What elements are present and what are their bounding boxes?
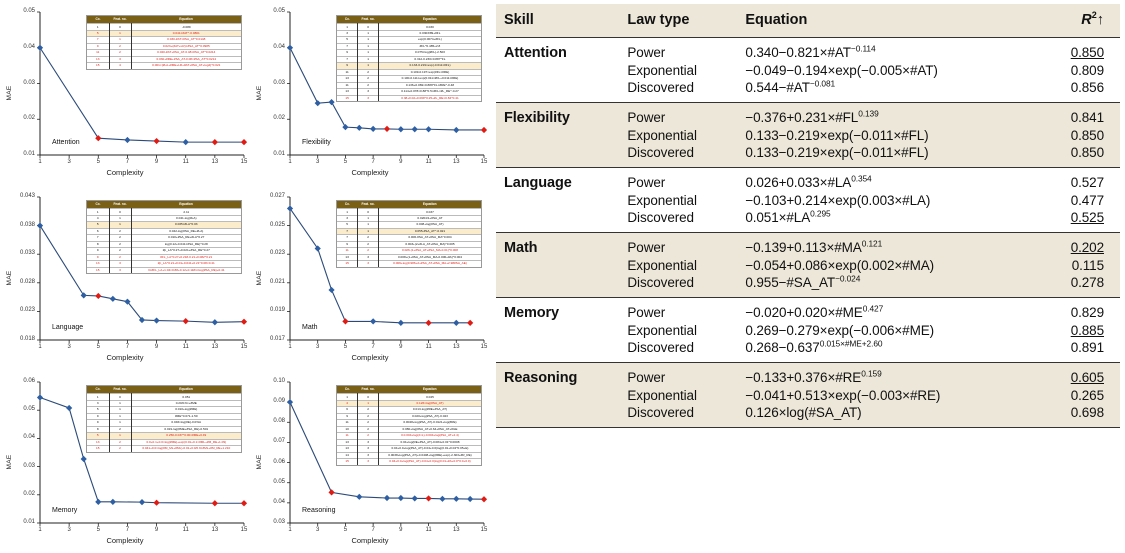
chart-reasoning-ytick: 0.07 <box>273 438 285 444</box>
chart-memory: 0.010.020.030.040.050.0613579111315MAECo… <box>0 370 250 553</box>
chart-memory-xtick: 11 <box>178 527 194 533</box>
chart-language-ytick: 0.033 <box>20 250 35 256</box>
chart-memory-ytick: 0.05 <box>23 406 35 412</box>
cell-law-type: Exponential <box>619 387 737 404</box>
cell-r2: 0.202 <box>1037 233 1120 258</box>
cell-r2: 0.525 <box>1037 209 1120 233</box>
inner-table-row: 1533×#FL_LA+1.04×0.88+0.12+0.1181×log(#S… <box>87 267 241 273</box>
chart-language: 0.0180.0230.0280.0330.0380.0431357911131… <box>0 185 250 370</box>
chart-language-xlabel: Complexity <box>0 353 250 362</box>
chart-reasoning-xtick: 3 <box>310 527 326 533</box>
chart-attention-ytick: 0.01 <box>23 151 35 157</box>
chart-language-xtick: 5 <box>90 344 106 350</box>
inner-table-row: 1530.009+log(0.986+2+#SA_AT+#SA_MA+2.98#… <box>337 261 481 267</box>
chart-language-ytick: 0.038 <box>20 222 35 228</box>
chart-flexibility-xlabel: Complexity <box>250 168 490 177</box>
cell-equation: 0.133−0.219×exp(−0.011×#FL) <box>737 144 1037 168</box>
cell-r2: 0.850 <box>1037 38 1120 63</box>
chart-memory-ytick: 0.01 <box>23 519 35 525</box>
chart-memory-ylabel: MAE <box>6 454 13 469</box>
cell-r2: 0.605 <box>1037 363 1120 388</box>
cell-r2: 0.850 <box>1037 127 1120 144</box>
cell-skill <box>496 79 619 103</box>
results-row-language-power: LanguagePower0.026+0.033×#LA0.3540.527 <box>496 168 1120 193</box>
inner-table-row: 1530.38+0.02+0.069^0.25+#L_RE×0.84^0.41 <box>337 95 481 101</box>
cell-r2: 0.477 <box>1037 192 1120 209</box>
cell-skill: Flexibility <box>496 103 619 128</box>
chart-memory-series-label: Memory <box>52 507 77 514</box>
cell-r2: 0.115 <box>1037 257 1120 274</box>
inner-th-equation: Equation <box>131 386 241 394</box>
inner-th-cx: Cx. <box>87 386 109 394</box>
inner-table-row: 1540.001×(#LA+#ME+LR+#AT+#SA_AT+log2)^0.… <box>87 63 241 69</box>
inner-th-feat: Feat. no. <box>358 16 379 24</box>
chart-attention-xtick: 3 <box>61 159 77 165</box>
chart-attention-ytick: 0.02 <box>23 115 35 121</box>
chart-language-ytick: 0.023 <box>20 307 35 313</box>
results-row-attention-discovered: Discovered0.544−#AT−0.0810.856 <box>496 79 1120 103</box>
plots-grid: 0.010.020.030.040.0513579111315MAEComple… <box>0 0 490 553</box>
cell-equation: 0.955−#SA_AT−0.024 <box>737 274 1037 298</box>
chart-flexibility-xtick: 1 <box>282 159 298 165</box>
results-row-math-power: MathPower−0.139+0.113×#MA0.1210.202 <box>496 233 1120 258</box>
inner-th-feat: Feat. no. <box>109 201 131 209</box>
cell-skill: Attention <box>496 38 619 63</box>
chart-reasoning-ytick: 0.09 <box>273 398 285 404</box>
chart-math-ytick: 0.021 <box>270 279 285 285</box>
cell-equation: −0.133+0.376×#RE0.159 <box>737 363 1037 388</box>
cell-r2: 0.891 <box>1037 339 1120 363</box>
chart-math-xtick: 5 <box>337 344 353 350</box>
cell-skill <box>496 127 619 144</box>
chart-reasoning-ytick: 0.08 <box>273 418 285 424</box>
cell-equation: 0.269−0.279×exp(−0.006×#ME) <box>737 322 1037 339</box>
inner-table-row: 1530.04+0.0+log(#SA_AT)-0.04+0.0(log(0.0… <box>337 459 481 465</box>
cell-r2: 0.885 <box>1037 322 1120 339</box>
results-row-memory-discovered: Discovered0.268−0.6370.015×#ME+2.600.891 <box>496 339 1120 363</box>
chart-flexibility-xtick: 13 <box>448 159 464 165</box>
inner-table-row: 1520.041+0.0×log(#M_ML+#ML)-0.01+0.0/0.9… <box>87 446 241 452</box>
cell-law-type: Exponential <box>619 127 737 144</box>
chart-math-equation-table: Cx.Feat. no.Equation100.037310.0204/1+#S… <box>336 200 482 268</box>
chart-reasoning-xlabel: Complexity <box>250 536 490 545</box>
results-row-reasoning-power: ReasoningPower−0.133+0.376×#RE0.1590.605 <box>496 363 1120 388</box>
chart-attention-ytick: 0.03 <box>23 80 35 86</box>
chart-memory-xtick: 3 <box>61 527 77 533</box>
cell-equation: 0.268−0.6370.015×#ME+2.60 <box>737 339 1037 363</box>
results-row-attention-exponential: Exponential−0.049−0.194×exp(−0.005×#AT)0… <box>496 62 1120 79</box>
chart-reasoning-ytick: 0.06 <box>273 459 285 465</box>
chart-attention-xtick: 11 <box>178 159 194 165</box>
results-header-row: SkillLaw typeEquationR2↑ <box>496 4 1120 38</box>
chart-math-xlabel: Complexity <box>250 353 490 362</box>
cell-skill <box>496 404 619 428</box>
results-row-reasoning-discovered: Discovered0.126×log(#SA_AT)0.698 <box>496 404 1120 428</box>
chart-attention-xlabel: Complexity <box>0 168 250 177</box>
chart-math-xtick: 3 <box>310 344 326 350</box>
results-table: SkillLaw typeEquationR2↑AttentionPower0.… <box>496 4 1120 428</box>
cell-skill <box>496 62 619 79</box>
inner-th-feat: Feat. no. <box>109 386 131 394</box>
cell-r2: 0.527 <box>1037 168 1120 193</box>
chart-flexibility-equation-table: Cx.Feat. no.Equation100.030310.0303/89+#… <box>336 15 482 102</box>
chart-attention-xtick: 13 <box>207 159 223 165</box>
inner-th-equation: Equation <box>378 16 481 24</box>
cell-r2: 0.829 <box>1037 298 1120 323</box>
chart-math-ylabel: MAE <box>256 270 263 285</box>
chart-reasoning-xtick: 11 <box>421 527 437 533</box>
chart-attention-equation-table: Cx.Feat. no.Equation10-0.089510.041×#AT^… <box>86 15 242 70</box>
chart-attention-ylabel: MAE <box>6 85 13 100</box>
chart-math-xtick: 7 <box>365 344 381 350</box>
chart-reasoning-xtick: 7 <box>365 527 381 533</box>
chart-language-xtick: 13 <box>207 344 223 350</box>
chart-flexibility-xtick: 9 <box>393 159 409 165</box>
cell-equation: 0.026+0.033×#LA0.354 <box>737 168 1037 193</box>
results-row-memory-exponential: Exponential0.269−0.279×exp(−0.006×#ME)0.… <box>496 322 1120 339</box>
chart-attention-ytick: 0.04 <box>23 44 35 50</box>
cell-law-type: Discovered <box>619 274 737 298</box>
chart-attention: 0.010.020.030.040.0513579111315MAEComple… <box>0 0 250 185</box>
inner-th-cx: Cx. <box>87 16 109 24</box>
chart-flexibility-xtick: 3 <box>310 159 326 165</box>
cell-equation: 0.051×#LA0.295 <box>737 209 1037 233</box>
chart-flexibility-xtick: 11 <box>421 159 437 165</box>
cell-skill: Reasoning <box>496 363 619 388</box>
cell-equation: 0.340−0.821×#AT−0.114 <box>737 38 1037 63</box>
cell-r2: 0.841 <box>1037 103 1120 128</box>
cell-law-type: Power <box>619 363 737 388</box>
cell-r2: 0.856 <box>1037 79 1120 103</box>
inner-th-equation: Equation <box>131 201 241 209</box>
inner-th-equation: Equation <box>378 386 481 394</box>
chart-attention-xtick: 9 <box>149 159 165 165</box>
inner-th-feat: Feat. no. <box>358 201 379 209</box>
cell-skill <box>496 257 619 274</box>
chart-reasoning-equation-table: Cx.Feat. no.Equation100.045410.126×log(#… <box>336 385 482 466</box>
cell-law-type: Discovered <box>619 209 737 233</box>
chart-math-ytick: 0.019 <box>270 307 285 313</box>
cell-equation: −0.049−0.194×exp(−0.005×#AT) <box>737 62 1037 79</box>
chart-math-xtick: 9 <box>393 344 409 350</box>
results-row-memory-power: MemoryPower−0.020+0.020×#ME0.4270.829 <box>496 298 1120 323</box>
cell-skill: Language <box>496 168 619 193</box>
chart-math-ytick: 0.023 <box>270 250 285 256</box>
chart-language-ytick: 0.043 <box>20 193 35 199</box>
chart-flexibility-ytick: 0.03 <box>273 80 285 86</box>
chart-language-ytick: 0.028 <box>20 279 35 285</box>
chart-memory-xlabel: Complexity <box>0 536 250 545</box>
results-row-attention-power: AttentionPower0.340−0.821×#AT−0.1140.850 <box>496 38 1120 63</box>
chart-reasoning-xtick: 9 <box>393 527 409 533</box>
chart-reasoning-xtick: 15 <box>476 527 492 533</box>
cell-law-type: Exponential <box>619 322 737 339</box>
chart-flexibility-series-label: Flexibility <box>302 139 331 146</box>
cell-law-type: Exponential <box>619 257 737 274</box>
inner-th-equation: Equation <box>131 16 241 24</box>
inner-th-cx: Cx. <box>87 201 109 209</box>
chart-math-ytick: 0.017 <box>270 336 285 342</box>
chart-memory-xtick: 7 <box>119 527 135 533</box>
cell-r2: 0.809 <box>1037 62 1120 79</box>
cell-equation: −0.103+0.214×exp(0.003×#LA) <box>737 192 1037 209</box>
chart-flexibility-ylabel: MAE <box>256 85 263 100</box>
cell-skill <box>496 192 619 209</box>
chart-memory-xtick: 1 <box>32 527 48 533</box>
chart-math-xtick: 13 <box>448 344 464 350</box>
chart-flexibility: 0.010.020.030.040.0513579111315MAEComple… <box>250 0 490 185</box>
cell-law-type: Discovered <box>619 404 737 428</box>
chart-flexibility-xtick: 15 <box>476 159 492 165</box>
cell-skill <box>496 387 619 404</box>
cell-law-type: Discovered <box>619 79 737 103</box>
chart-memory-xtick: 9 <box>149 527 165 533</box>
cell-skill <box>496 209 619 233</box>
cell-equation: 0.133−0.219×exp(−0.011×#FL) <box>737 127 1037 144</box>
cell-law-type: Discovered <box>619 339 737 363</box>
header-r2: R2↑ <box>1037 4 1120 38</box>
results-row-flexibility-discovered: Discovered0.133−0.219×exp(−0.011×#FL)0.8… <box>496 144 1120 168</box>
cell-r2: 0.698 <box>1037 404 1120 428</box>
cell-r2: 0.265 <box>1037 387 1120 404</box>
chart-flexibility-ytick: 0.04 <box>273 44 285 50</box>
chart-memory-xtick: 13 <box>207 527 223 533</box>
cell-law-type: Power <box>619 233 737 258</box>
chart-language-xtick: 3 <box>61 344 77 350</box>
cell-law-type: Power <box>619 298 737 323</box>
header-law-type: Law type <box>619 4 737 38</box>
cell-equation: −0.139+0.113×#MA0.121 <box>737 233 1037 258</box>
cell-law-type: Power <box>619 38 737 63</box>
cell-law-type: Exponential <box>619 192 737 209</box>
chart-math-xtick: 11 <box>421 344 437 350</box>
chart-flexibility-ytick: 0.01 <box>273 151 285 157</box>
chart-language-equation-table: Cx.Feat. no.Equation102.11410.041-log(#L… <box>86 200 242 274</box>
header-equation: Equation <box>737 4 1037 38</box>
cell-law-type: Power <box>619 168 737 193</box>
figure-root: 0.010.020.030.040.0513579111315MAEComple… <box>0 0 1125 553</box>
chart-reasoning-series-label: Reasoning <box>302 507 335 514</box>
results-row-flexibility-power: FlexibilityPower−0.376+0.231×#FL0.1390.8… <box>496 103 1120 128</box>
inner-th-cx: Cx. <box>337 16 358 24</box>
chart-reasoning: 0.030.040.050.060.070.080.090.1013579111… <box>250 370 490 553</box>
chart-attention-xtick: 7 <box>119 159 135 165</box>
chart-attention-xtick: 5 <box>90 159 106 165</box>
results-row-language-discovered: Discovered0.051×#LA0.2950.525 <box>496 209 1120 233</box>
chart-math-xtick: 1 <box>282 344 298 350</box>
results-row-language-exponential: Exponential−0.103+0.214×exp(0.003×#LA)0.… <box>496 192 1120 209</box>
results-row-math-exponential: Exponential−0.054+0.086×exp(0.002×#MA)0.… <box>496 257 1120 274</box>
chart-memory-ytick: 0.06 <box>23 378 35 384</box>
chart-math-series-label: Math <box>302 324 318 331</box>
inner-th-cx: Cx. <box>337 386 358 394</box>
chart-memory-ytick: 0.02 <box>23 491 35 497</box>
cell-law-type: Power <box>619 103 737 128</box>
cell-equation: 0.544−#AT−0.081 <box>737 79 1037 103</box>
chart-memory-ytick: 0.04 <box>23 434 35 440</box>
cell-equation: 0.126×log(#SA_AT) <box>737 404 1037 428</box>
cell-skill <box>496 322 619 339</box>
inner-th-feat: Feat. no. <box>109 16 131 24</box>
cell-equation: −0.020+0.020×#ME0.427 <box>737 298 1037 323</box>
chart-language-ytick: 0.018 <box>20 336 35 342</box>
chart-math-ytick: 0.025 <box>270 222 285 228</box>
chart-language-xtick: 7 <box>119 344 135 350</box>
chart-language-ylabel: MAE <box>6 270 13 285</box>
cell-skill: Memory <box>496 298 619 323</box>
cell-skill: Math <box>496 233 619 258</box>
chart-language-xtick: 1 <box>32 344 48 350</box>
chart-reasoning-xtick: 13 <box>448 527 464 533</box>
chart-reasoning-ytick: 0.03 <box>273 519 285 525</box>
chart-flexibility-ytick: 0.05 <box>273 8 285 14</box>
chart-reasoning-xtick: 5 <box>337 527 353 533</box>
chart-memory-ytick: 0.03 <box>23 463 35 469</box>
cell-equation: −0.376+0.231×#FL0.139 <box>737 103 1037 128</box>
cell-skill <box>496 339 619 363</box>
cell-equation: −0.054+0.086×exp(0.002×#MA) <box>737 257 1037 274</box>
chart-attention-ytick: 0.05 <box>23 8 35 14</box>
chart-reasoning-ytick: 0.04 <box>273 499 285 505</box>
chart-language-xtick: 11 <box>178 344 194 350</box>
chart-attention-xtick: 1 <box>32 159 48 165</box>
results-row-reasoning-exponential: Exponential−0.041+0.513×exp(−0.003×#RE)0… <box>496 387 1120 404</box>
results-row-flexibility-exponential: Exponential0.133−0.219×exp(−0.011×#FL)0.… <box>496 127 1120 144</box>
inner-th-cx: Cx. <box>337 201 358 209</box>
chart-memory-xtick: 5 <box>90 527 106 533</box>
chart-reasoning-xtick: 1 <box>282 527 298 533</box>
chart-attention-series-label: Attention <box>52 139 80 146</box>
inner-th-feat: Feat. no. <box>358 386 379 394</box>
cell-skill <box>496 274 619 298</box>
chart-flexibility-xtick: 7 <box>365 159 381 165</box>
results-row-math-discovered: Discovered0.955−#SA_AT−0.0240.278 <box>496 274 1120 298</box>
chart-reasoning-ytick: 0.05 <box>273 479 285 485</box>
cell-skill <box>496 144 619 168</box>
chart-reasoning-ylabel: MAE <box>256 454 263 469</box>
chart-flexibility-ytick: 0.02 <box>273 115 285 121</box>
chart-flexibility-xtick: 5 <box>337 159 353 165</box>
chart-language-xtick: 9 <box>149 344 165 350</box>
cell-equation: −0.041+0.513×exp(−0.003×#RE) <box>737 387 1037 404</box>
chart-memory-equation-table: Cx.Feat. no.Equation100.051310.20/0.6×+#… <box>86 385 242 453</box>
chart-language-series-label: Language <box>52 324 83 331</box>
chart-math-ytick: 0.027 <box>270 193 285 199</box>
chart-math-xtick: 15 <box>476 344 492 350</box>
inner-th-equation: Equation <box>378 201 481 209</box>
cell-r2: 0.850 <box>1037 144 1120 168</box>
header-skill: Skill <box>496 4 619 38</box>
chart-reasoning-ytick: 0.10 <box>273 378 285 384</box>
cell-law-type: Discovered <box>619 144 737 168</box>
cell-r2: 0.278 <box>1037 274 1120 298</box>
cell-law-type: Exponential <box>619 62 737 79</box>
chart-math: 0.0170.0190.0210.0230.0250.0271357911131… <box>250 185 490 370</box>
